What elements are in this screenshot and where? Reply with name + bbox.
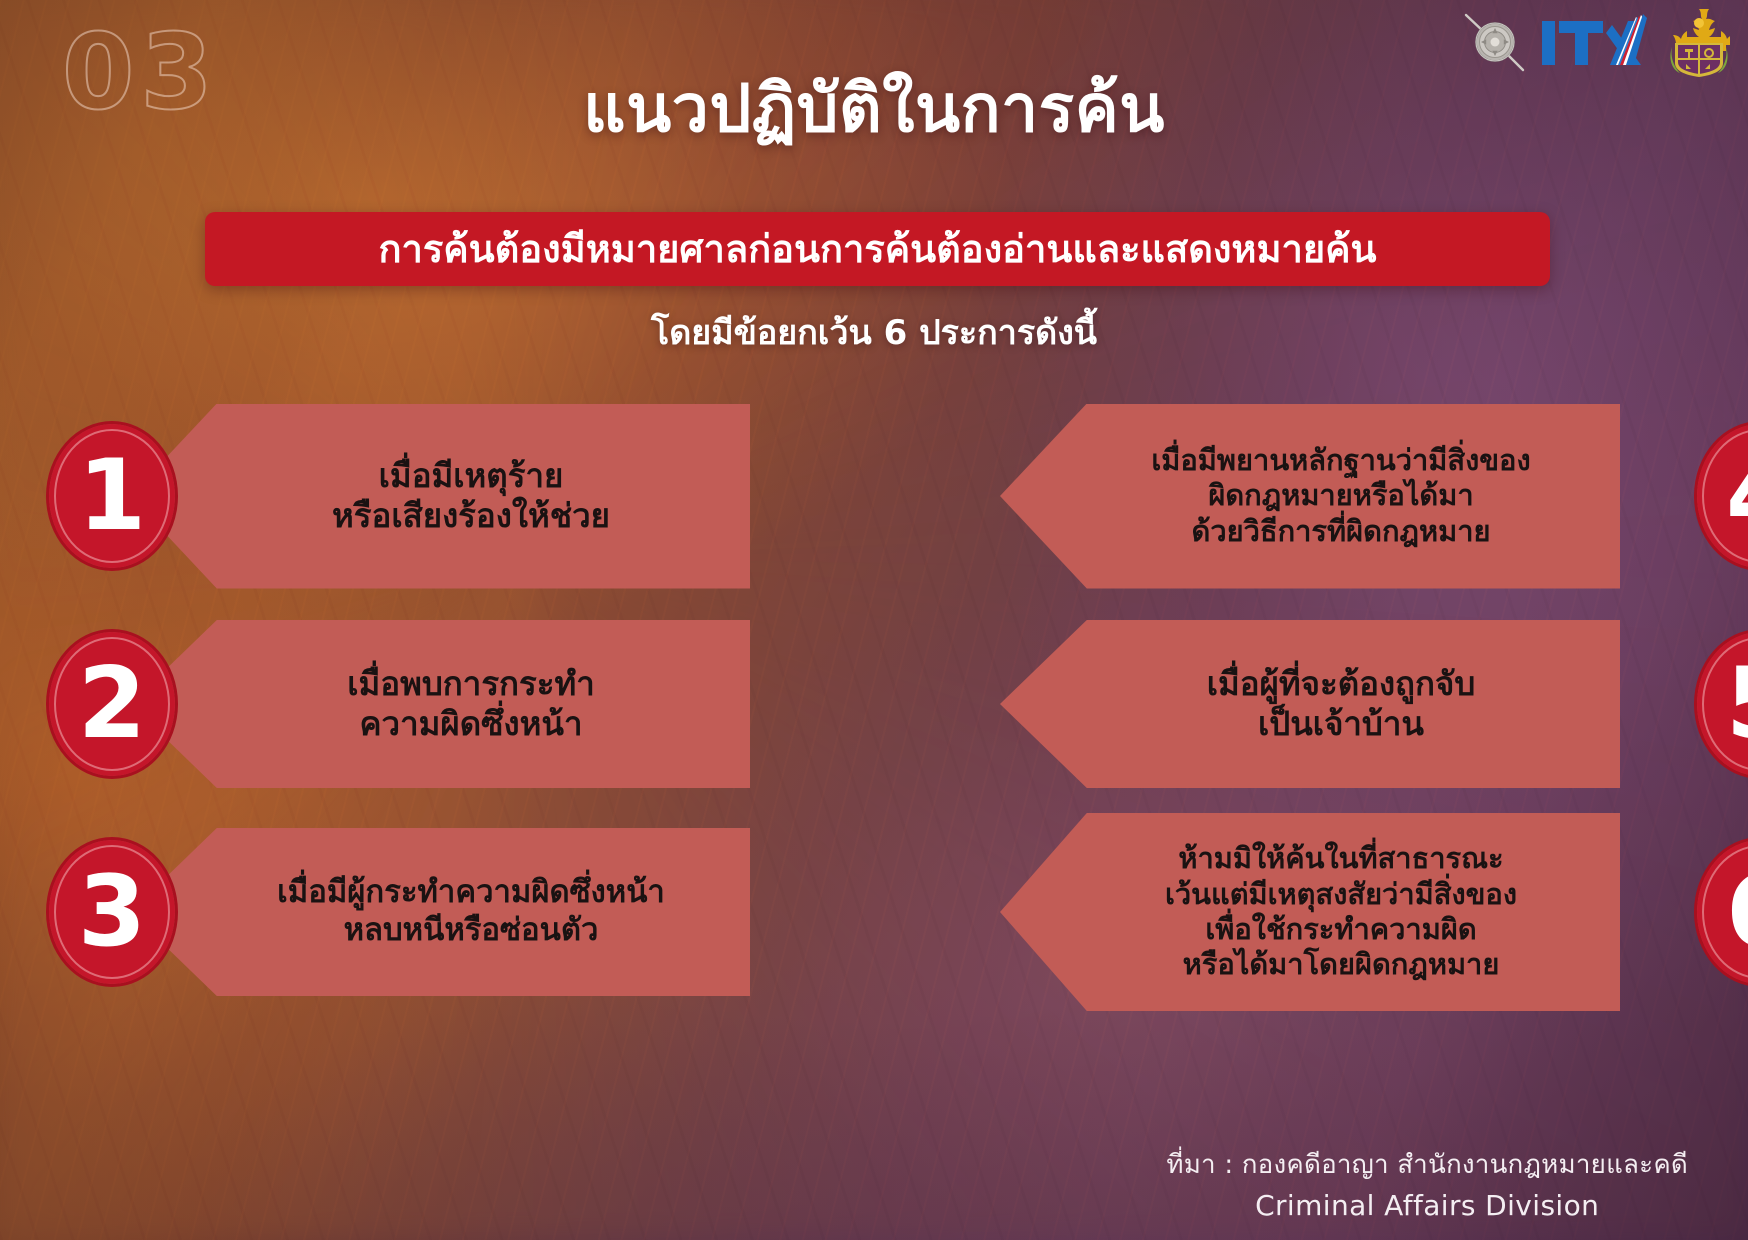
item-number: 2 xyxy=(78,655,146,753)
item-arrow-banner: เมื่อมีเหตุร้าย หรือเสียงร้องให้ช่วย xyxy=(130,404,750,589)
exception-item-6: 6 ห้ามมิให้ค้นในที่สาธารณะ เว้นแต่มีเหตุ… xyxy=(874,808,1748,1016)
item-arrow-banner: เมื่อผู้ที่จะต้องถูกจับ เป็นเจ้าบ้าน xyxy=(1000,620,1620,788)
item-number-badge: 4 xyxy=(1694,421,1748,571)
item-text-line: เมื่อมีเหตุร้าย xyxy=(332,456,610,496)
item-text-line: ด้วยวิธีการที่ผิดกฎหมาย xyxy=(1151,514,1530,549)
item-number-badge: 6 xyxy=(1694,837,1748,987)
items-column-right: 4 เมื่อมีพยานหลักฐานว่ามีสิ่งของ ผิดกฎหม… xyxy=(874,392,1748,1016)
exception-item-1: 1 เมื่อมีเหตุร้าย หรือเสียงร้องให้ช่วย xyxy=(0,392,874,600)
item-text-line: เพื่อใช้กระทำความผิด xyxy=(1165,912,1517,947)
item-text-line: เว้นแต่มีเหตุสงสัยว่ามีสิ่งของ xyxy=(1165,877,1517,912)
items-grid: 1 เมื่อมีเหตุร้าย หรือเสียงร้องให้ช่วย 2… xyxy=(0,392,1748,1016)
item-arrow-banner: เมื่อมีพยานหลักฐานว่ามีสิ่งของ ผิดกฎหมาย… xyxy=(1000,404,1620,589)
ita-logo-icon xyxy=(1540,11,1658,73)
subtitle: โดยมีข้อยกเว้น 6 ประการดังนี้ xyxy=(0,305,1748,359)
headline-banner-text: การค้นต้องมีหมายศาลก่อนการค้นต้องอ่านและ… xyxy=(378,230,1376,268)
item-text-line: เมื่อผู้ที่จะต้องถูกจับ xyxy=(1207,664,1476,704)
exception-item-3: 3 เมื่อมีผู้กระทำความผิดซึ่งหน้า หลบหนีห… xyxy=(0,808,874,1016)
items-column-left: 1 เมื่อมีเหตุร้าย หรือเสียงร้องให้ช่วย 2… xyxy=(0,392,874,1016)
item-number-badge: 1 xyxy=(46,421,178,571)
item-number-badge: 5 xyxy=(1694,629,1748,779)
exception-item-5: 5 เมื่อผู้ที่จะต้องถูกจับ เป็นเจ้าบ้าน xyxy=(874,600,1748,808)
item-text-line: เมื่อพบการกระทำ xyxy=(347,664,595,704)
infographic-poster: 03 แนวปฏิบัติในการค้น xyxy=(0,0,1748,1240)
footer: ที่มา : กองคดีอาญา สำนักงานกฎหมายและคดี … xyxy=(1166,1144,1688,1222)
item-text-line: เป็นเจ้าบ้าน xyxy=(1207,704,1476,744)
item-text: ห้ามมิให้ค้นในที่สาธารณะ เว้นแต่มีเหตุสง… xyxy=(1165,841,1535,983)
item-number: 1 xyxy=(78,447,146,545)
item-number: 4 xyxy=(1726,447,1748,545)
item-number-badge: 2 xyxy=(46,629,178,779)
item-text-line: เมื่อมีพยานหลักฐานว่ามีสิ่งของ xyxy=(1151,443,1530,478)
item-text: เมื่อมีพยานหลักฐานว่ามีสิ่งของ ผิดกฎหมาย… xyxy=(1151,443,1548,549)
item-text-line: เมื่อมีผู้กระทำความผิดซึ่งหน้า xyxy=(277,874,665,912)
item-text-line: หลบหนีหรือซ่อนตัว xyxy=(277,912,665,950)
exception-item-4: 4 เมื่อมีพยานหลักฐานว่ามีสิ่งของ ผิดกฎหม… xyxy=(874,392,1748,600)
item-text-line: หรือเสียงร้องให้ช่วย xyxy=(332,496,610,536)
item-text: เมื่อพบการกระทำ ความผิดซึ่งหน้า xyxy=(347,664,613,745)
item-text: เมื่อผู้ที่จะต้องถูกจับ เป็นเจ้าบ้าน xyxy=(1207,664,1494,745)
exception-item-2: 2 เมื่อพบการกระทำ ความผิดซึ่งหน้า xyxy=(0,600,874,808)
item-text: เมื่อมีเหตุร้าย หรือเสียงร้องให้ช่วย xyxy=(332,456,628,537)
headline-banner: การค้นต้องมีหมายศาลก่อนการค้นต้องอ่านและ… xyxy=(205,212,1550,286)
item-arrow-banner: เมื่อมีผู้กระทำความผิดซึ่งหน้า หลบหนีหรื… xyxy=(130,828,750,996)
item-arrow-banner: เมื่อพบการกระทำ ความผิดซึ่งหน้า xyxy=(130,620,750,788)
item-text: เมื่อมีผู้กระทำความผิดซึ่งหน้า หลบหนีหรื… xyxy=(277,874,683,950)
item-text-line: ความผิดซึ่งหน้า xyxy=(347,704,595,744)
footer-source-th: ที่มา : กองคดีอาญา สำนักงานกฎหมายและคดี xyxy=(1166,1144,1688,1185)
item-number: 6 xyxy=(1726,863,1748,961)
item-text-line: ผิดกฎหมายหรือได้มา xyxy=(1151,478,1530,513)
footer-source-en: Criminal Affairs Division xyxy=(1166,1189,1688,1222)
police-badge-emblem-icon xyxy=(1460,7,1530,77)
item-number: 3 xyxy=(78,863,146,961)
royal-police-crest-icon xyxy=(1668,7,1730,77)
item-text-line: ห้ามมิให้ค้นในที่สาธารณะ xyxy=(1165,841,1517,876)
item-text-line: หรือได้มาโดยผิดกฎหมาย xyxy=(1165,947,1517,982)
item-number-badge: 3 xyxy=(46,837,178,987)
item-number: 5 xyxy=(1726,655,1748,753)
item-arrow-banner: ห้ามมิให้ค้นในที่สาธารณะ เว้นแต่มีเหตุสง… xyxy=(1000,813,1620,1011)
logo-group xyxy=(1460,4,1730,80)
